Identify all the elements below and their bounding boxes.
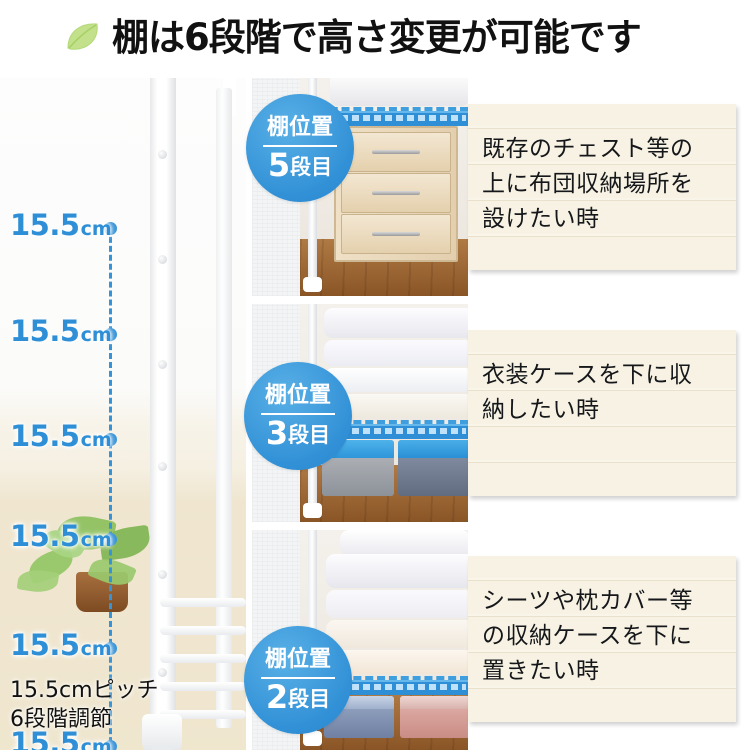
rack-foot bbox=[303, 277, 322, 292]
header-bar: 棚は6段階で高さ変更が可能です bbox=[0, 0, 750, 74]
measure-unit: cm bbox=[81, 529, 112, 551]
example-row-3: 棚位置 2段目 シーツや枕カバー等 の収納ケースを下に 置きたい時 bbox=[252, 530, 750, 750]
shelf-position-badge-2: 棚位置 3段目 bbox=[244, 362, 352, 470]
description-line: 納したい時 bbox=[482, 393, 736, 428]
measure-value: 15.5 bbox=[10, 208, 80, 242]
description-card-1: 既存のチェスト等の 上に布団収納場所を 設けたい時 bbox=[468, 104, 736, 270]
measure-label: 15.5cm bbox=[10, 208, 112, 242]
drawer bbox=[341, 214, 451, 254]
description-line: 既存のチェスト等の bbox=[482, 132, 736, 167]
measure-value: 15.5 bbox=[10, 519, 80, 553]
badge-level: 5段目 bbox=[268, 150, 332, 182]
measure-value: 15.5 bbox=[10, 314, 80, 348]
description-line: の収納ケースを下に bbox=[482, 619, 736, 654]
measure-value: 15.5 bbox=[10, 628, 80, 662]
drawer bbox=[341, 173, 451, 213]
badge-level-number: 2 bbox=[266, 678, 288, 716]
rack-left-post bbox=[150, 78, 176, 750]
badge-level-suffix: 段目 bbox=[288, 423, 330, 447]
futon-stack bbox=[330, 78, 468, 106]
measurement-panel: 15.5cm 15.5cm 15.5cm 15.5cm 15.5cm 15.5c… bbox=[0, 78, 246, 750]
measure-unit: cm bbox=[81, 324, 112, 346]
futon-stack bbox=[324, 308, 468, 338]
infographic-page: 棚は6段階で高さ変更が可能です bbox=[0, 0, 750, 750]
futon-stack bbox=[324, 368, 468, 392]
shelf-position-badge-1: 棚位置 5段目 bbox=[246, 94, 354, 202]
storage-box bbox=[400, 696, 468, 738]
badge-level: 2段目 bbox=[266, 682, 330, 714]
rack-screw bbox=[158, 668, 167, 677]
measure-unit: cm bbox=[81, 429, 112, 451]
rack-screw bbox=[158, 255, 167, 264]
drawer-handle bbox=[372, 150, 420, 154]
rack-screw bbox=[158, 150, 167, 159]
measure-dashed-line bbox=[109, 228, 112, 750]
measure-label: 15.5cm bbox=[10, 314, 112, 348]
description-line: 上に布団収納場所を bbox=[482, 167, 736, 202]
bin-lid bbox=[398, 440, 468, 458]
drawer-handle bbox=[372, 191, 420, 195]
measure-unit: cm bbox=[81, 638, 112, 660]
badge-level-number: 5 bbox=[268, 146, 290, 184]
description-line: 衣装ケースを下に収 bbox=[482, 358, 736, 393]
badge-level-suffix: 段目 bbox=[288, 687, 330, 711]
measure-unit: cm bbox=[81, 736, 112, 750]
futon-stack bbox=[324, 340, 468, 366]
example-row-1: 棚位置 5段目 既存のチェスト等の 上に布団収納場所を 設けたい時 bbox=[252, 78, 750, 296]
example-row-2: 棚位置 3段目 衣装ケースを下に収 納したい時 bbox=[252, 304, 750, 522]
rack-rung bbox=[160, 626, 246, 635]
pillow-stack bbox=[340, 530, 468, 556]
measure-label: 15.5cm bbox=[10, 628, 112, 662]
measure-value: 15.5 bbox=[10, 419, 80, 453]
description-line: 置きたい時 bbox=[482, 654, 736, 689]
pitch-caption: 15.5cmピッチ 6段階調節 bbox=[10, 676, 159, 734]
futon-stack bbox=[326, 554, 468, 588]
rack-rung bbox=[160, 682, 246, 691]
badge-label: 棚位置 bbox=[267, 115, 333, 143]
rack-screw bbox=[158, 360, 167, 369]
badge-level-suffix: 段目 bbox=[290, 155, 332, 179]
measure-label: 15.5cm bbox=[10, 519, 112, 553]
futon-stack bbox=[326, 620, 468, 648]
badge-level: 3段目 bbox=[266, 418, 330, 450]
pitch-caption-line2: 6段階調節 bbox=[10, 705, 159, 734]
badge-label: 棚位置 bbox=[265, 647, 331, 675]
pitch-caption-line1: 15.5cmピッチ bbox=[10, 676, 159, 705]
rack-screw bbox=[158, 462, 167, 471]
measure-label: 15.5cm bbox=[10, 419, 112, 453]
rack-rung bbox=[160, 598, 246, 607]
rack-rung bbox=[160, 654, 246, 663]
box-lid bbox=[400, 696, 468, 709]
description-card-3: シーツや枕カバー等 の収納ケースを下に 置きたい時 bbox=[468, 556, 736, 722]
badge-level-number: 3 bbox=[266, 414, 288, 452]
rack-foot bbox=[303, 503, 322, 518]
leaf-icon bbox=[66, 22, 100, 52]
drawer bbox=[341, 132, 451, 172]
measure-unit: cm bbox=[81, 218, 112, 240]
description-card-2: 衣装ケースを下に収 納したい時 bbox=[468, 330, 736, 496]
description-line: 設けたい時 bbox=[482, 202, 736, 237]
badge-label: 棚位置 bbox=[265, 383, 331, 411]
rack-screw bbox=[158, 570, 167, 579]
storage-bin bbox=[398, 440, 468, 496]
drawer-handle bbox=[372, 232, 420, 236]
description-line: シーツや枕カバー等 bbox=[482, 584, 736, 619]
page-title: 棚は6段階で高さ変更が可能です bbox=[112, 8, 641, 68]
futon-stack bbox=[326, 590, 468, 618]
shelf-position-badge-3: 棚位置 2段目 bbox=[244, 626, 352, 734]
